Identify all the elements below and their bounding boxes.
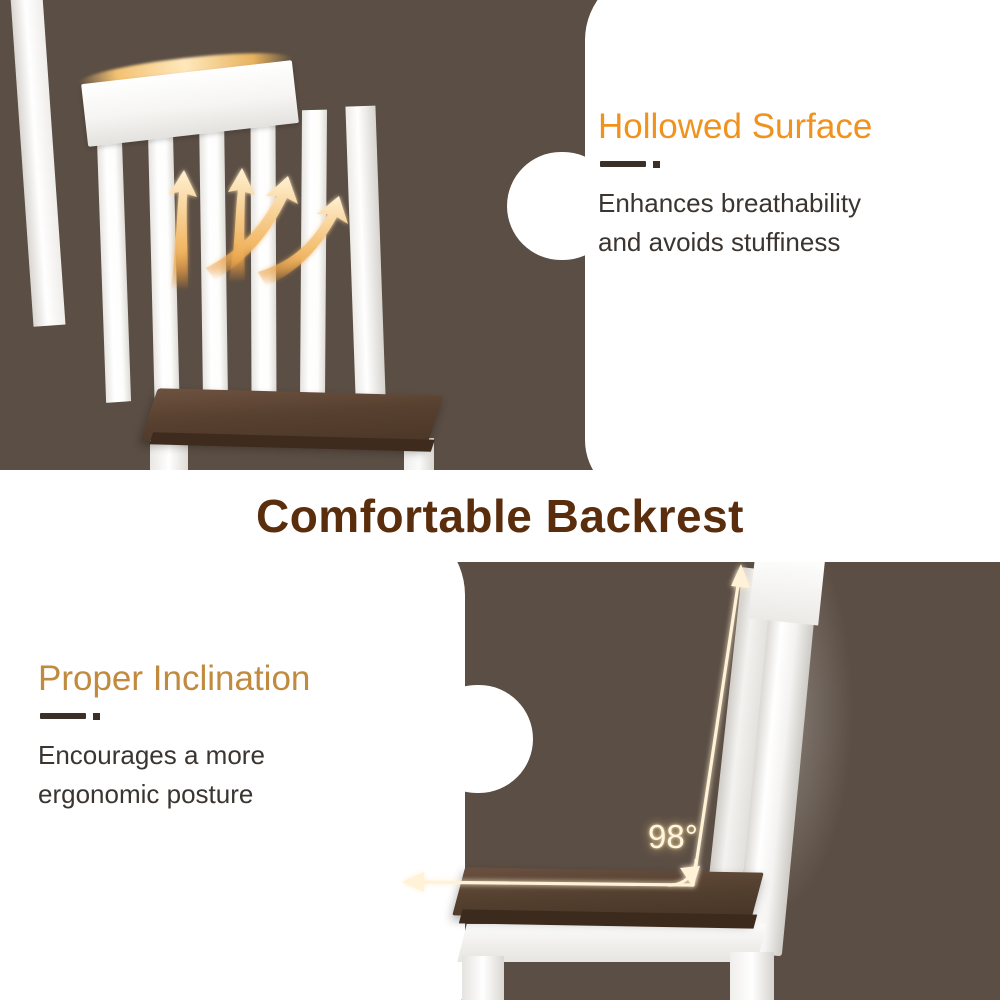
hollowed-surface-body-line1: Enhances breathability [598,184,968,224]
divider-dot [93,713,100,720]
chair-backrest-image [0,0,600,470]
chair-slat [250,109,276,402]
puzzle-tab [423,685,533,793]
chair-right-stile [345,106,386,427]
dash-dot-divider-icon [600,161,968,168]
proper-inclination-heading: Proper Inclination [38,660,418,699]
hollowed-surface-text-block: Hollowed Surface Enhances breathability … [598,108,968,263]
angle-degree-label: 98° [648,818,698,856]
hollowed-surface-body-line2: and avoids stuffiness [598,223,968,263]
hollowed-surface-heading: Hollowed Surface [598,108,968,147]
divider-dash [40,713,86,719]
chair-stretcher [494,980,738,998]
chair-leg [730,952,774,1000]
infographic-canvas: Hollowed Surface Enhances breathability … [0,0,1000,1000]
page-title: Comfortable Backrest [256,493,744,539]
dash-dot-divider-icon [40,713,418,720]
divider-dash [600,161,646,167]
chair-slat [199,109,228,402]
proper-inclination-text-block: Proper Inclination Encourages a more erg… [38,660,418,815]
chair-leg [462,956,504,1000]
chair-back-cap [749,560,826,625]
center-banner: Comfortable Backrest [0,470,1000,562]
chair-slat [96,109,131,403]
chair-slat [147,109,179,403]
chair-slats-group [55,110,385,410]
proper-inclination-body-line1: Encourages a more [38,736,418,776]
divider-dot [653,161,660,168]
proper-inclination-body-line2: ergonomic posture [38,775,418,815]
chair-slat [300,110,327,403]
